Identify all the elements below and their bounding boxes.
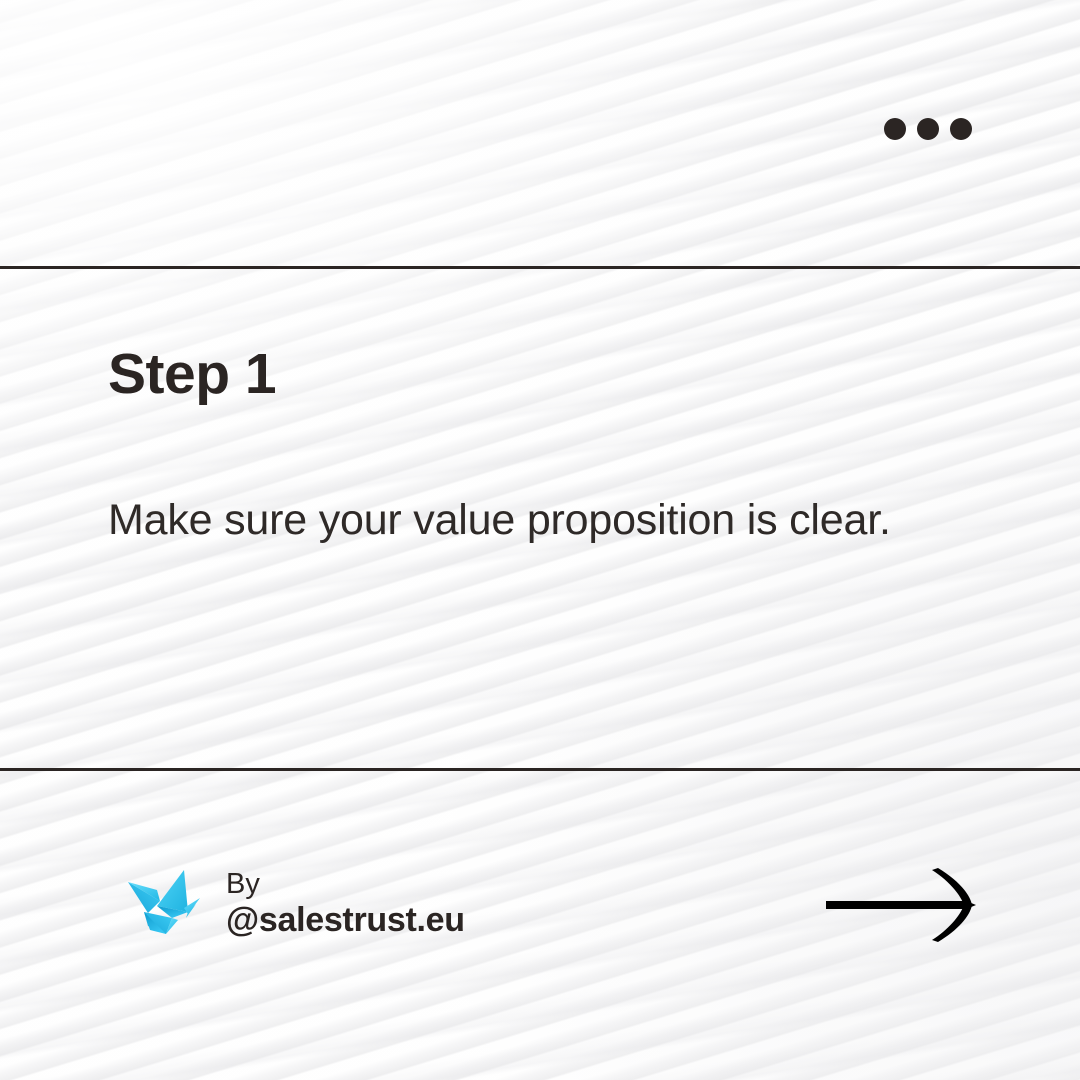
step-description: Make sure your value proposition is clea… — [108, 490, 938, 551]
origami-crane-icon — [126, 868, 202, 940]
attribution-prefix: By — [226, 869, 465, 899]
brand-handle: @salestrust.eu — [226, 903, 465, 939]
header-region — [0, 0, 1080, 267]
slide-card: Step 1 Make sure your value proposition … — [0, 0, 1080, 1080]
ellipsis-dot-3 — [950, 118, 972, 140]
divider-top — [0, 266, 1080, 269]
attribution: By @salestrust.eu — [126, 868, 465, 940]
attribution-text: By @salestrust.eu — [226, 869, 465, 939]
more-menu-button[interactable] — [884, 118, 972, 140]
ellipsis-dot-1 — [884, 118, 906, 140]
ellipsis-dot-2 — [917, 118, 939, 140]
page-title: Step 1 — [108, 346, 276, 403]
arrow-right-icon[interactable] — [822, 866, 978, 946]
